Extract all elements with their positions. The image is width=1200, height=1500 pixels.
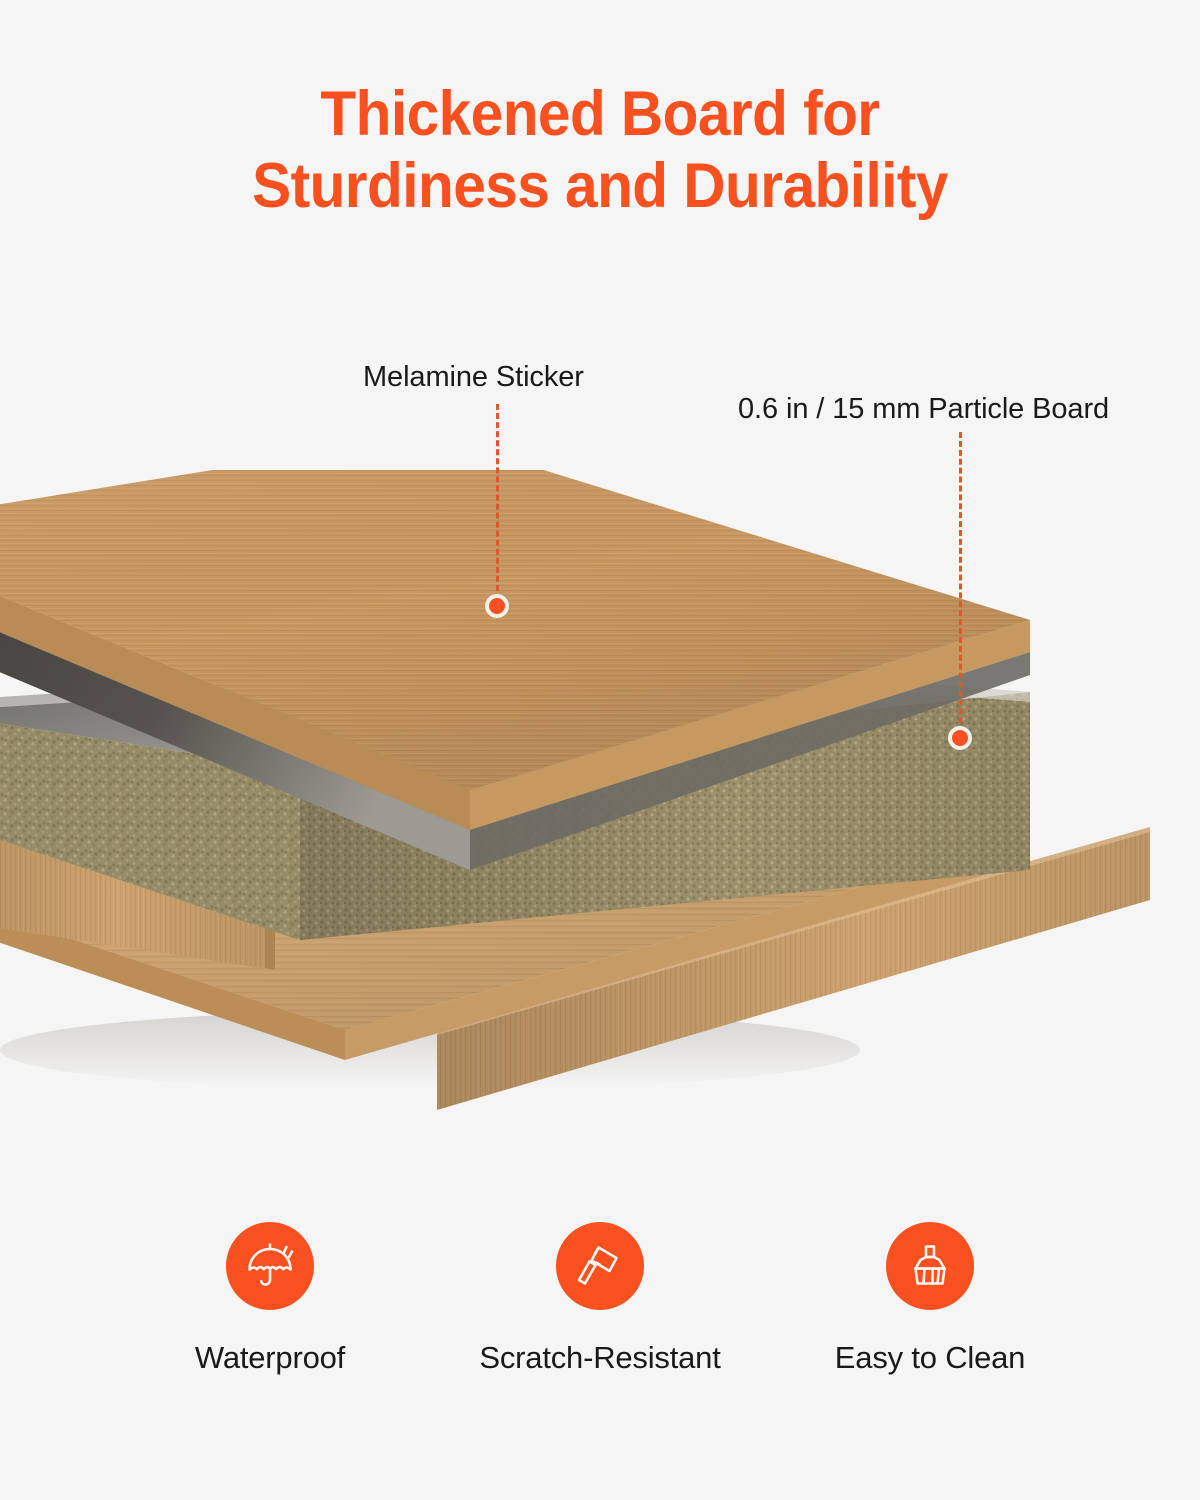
- feature-waterproof: Waterproof: [160, 1222, 380, 1376]
- feature-easy-to-clean: Easy to Clean: [820, 1222, 1040, 1376]
- feature-icon-circle-waterproof: [226, 1222, 314, 1310]
- feature-list: Waterproof Scratch-Resistant: [0, 1222, 1200, 1376]
- feature-icon-circle-scratch-resistant: [556, 1222, 644, 1310]
- board-illustration: [0, 470, 1200, 1170]
- callout-label-particle-board: 0.6 in / 15 mm Particle Board: [738, 392, 1109, 426]
- page-title-line-2: Sturdiness and Durability: [42, 150, 1158, 222]
- umbrella-icon: [242, 1238, 298, 1294]
- feature-scratch-resistant: Scratch-Resistant: [490, 1222, 710, 1376]
- callout-label-melamine-sticker: Melamine Sticker: [363, 360, 584, 394]
- feature-label-scratch-resistant: Scratch-Resistant: [479, 1340, 720, 1376]
- leader-line-melamine-sticker: [496, 404, 499, 600]
- feature-icon-circle-easy-to-clean: [886, 1222, 974, 1310]
- page-title: Thickened Board for Sturdiness and Durab…: [0, 78, 1200, 222]
- leader-line-particle-board: [959, 432, 962, 732]
- marker-dot-particle-board: [948, 726, 972, 750]
- feature-label-easy-to-clean: Easy to Clean: [835, 1340, 1025, 1376]
- infographic-page: Thickened Board for Sturdiness and Durab…: [0, 0, 1200, 1500]
- feature-label-waterproof: Waterproof: [195, 1340, 345, 1376]
- marker-dot-melamine-sticker: [485, 594, 509, 618]
- broom-icon: [902, 1238, 958, 1294]
- paint-roller-icon: [572, 1238, 628, 1294]
- page-title-line-1: Thickened Board for: [42, 78, 1158, 150]
